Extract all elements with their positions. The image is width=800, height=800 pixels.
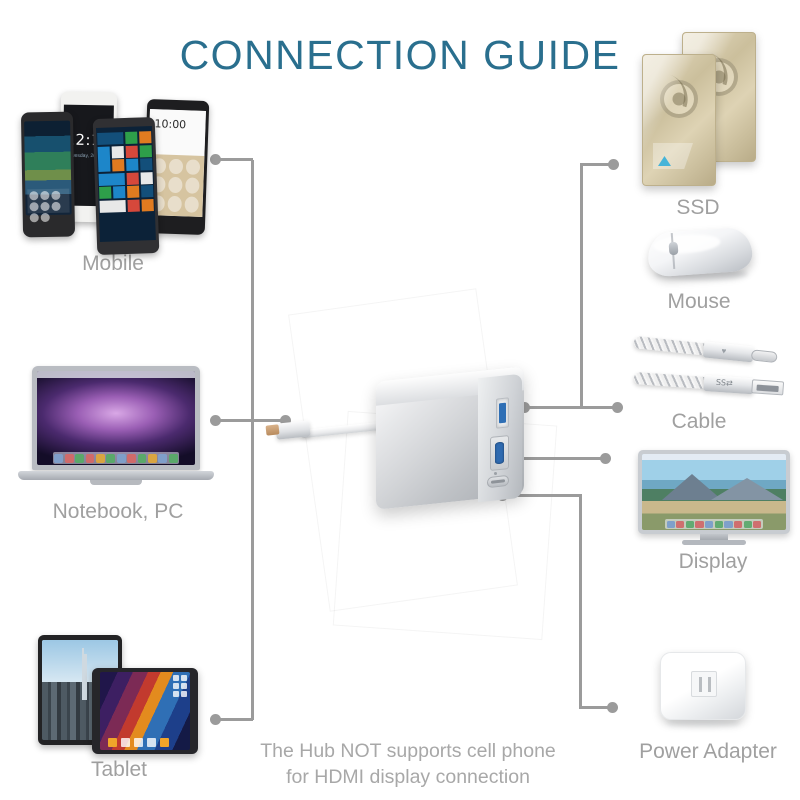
usb-c-multiport-hub (368, 366, 540, 514)
label-mouse: Mouse (636, 290, 762, 314)
connector-dot-display (600, 453, 611, 464)
connection-guide-infographic: CONNECTION GUIDE 12:10 Tuesd (0, 0, 800, 800)
note-line-1: The Hub NOT supports cell phone (218, 738, 598, 764)
label-cable: Cable (638, 410, 760, 434)
label-ssd: SSD (638, 196, 758, 220)
smartphone-windows (93, 117, 160, 255)
connector-branch-tablet (216, 718, 253, 721)
hub-usb-c-cable (262, 414, 382, 448)
connector-branch-mobile (216, 158, 253, 161)
connector-dot-ssd (608, 159, 619, 170)
smartphone-android-black (21, 112, 75, 238)
connector-trunk-left (251, 160, 254, 720)
hub-usb3-port (496, 397, 509, 428)
label-tablet: Tablet (44, 758, 194, 782)
cable-usb-a: SS⇄ (633, 370, 634, 386)
cable-usb-c: ♥ (633, 334, 635, 350)
device-ssd-hard-drives (636, 32, 762, 192)
device-power-adapter (660, 648, 752, 728)
label-display: Display (638, 550, 788, 574)
phone-clock-label: 10:00 (154, 117, 186, 131)
label-notebook-pc: Notebook, PC (28, 500, 208, 524)
hub-limitation-note: The Hub NOT supports cell phone for HDMI… (218, 738, 598, 790)
connector-dot-cable (612, 402, 623, 413)
connector-branch-power-v (579, 494, 582, 708)
device-wireless-mouse (648, 228, 756, 286)
label-mobile: Mobile (38, 252, 188, 276)
connector-branch-notebook (216, 419, 253, 422)
cable-usb-c-mark: ♥ (721, 346, 727, 355)
connector-trunk-right (580, 164, 583, 409)
connector-dot-power-adapter (607, 702, 618, 713)
hub-vga-port (490, 435, 509, 471)
tablet-colorful-wallpaper (92, 668, 198, 754)
connector-dot-mobile (210, 154, 221, 165)
device-group-cables: ♥ SS⇄ (628, 330, 778, 408)
note-line-2: for HDMI display connection (218, 764, 598, 790)
connector-dot-tablet (210, 714, 221, 725)
cable-usb-a-mark: SS⇄ (716, 378, 733, 388)
device-notebook-laptop (18, 366, 214, 488)
label-power-adapter: Power Adapter (618, 740, 798, 764)
device-display-monitor (638, 450, 790, 546)
